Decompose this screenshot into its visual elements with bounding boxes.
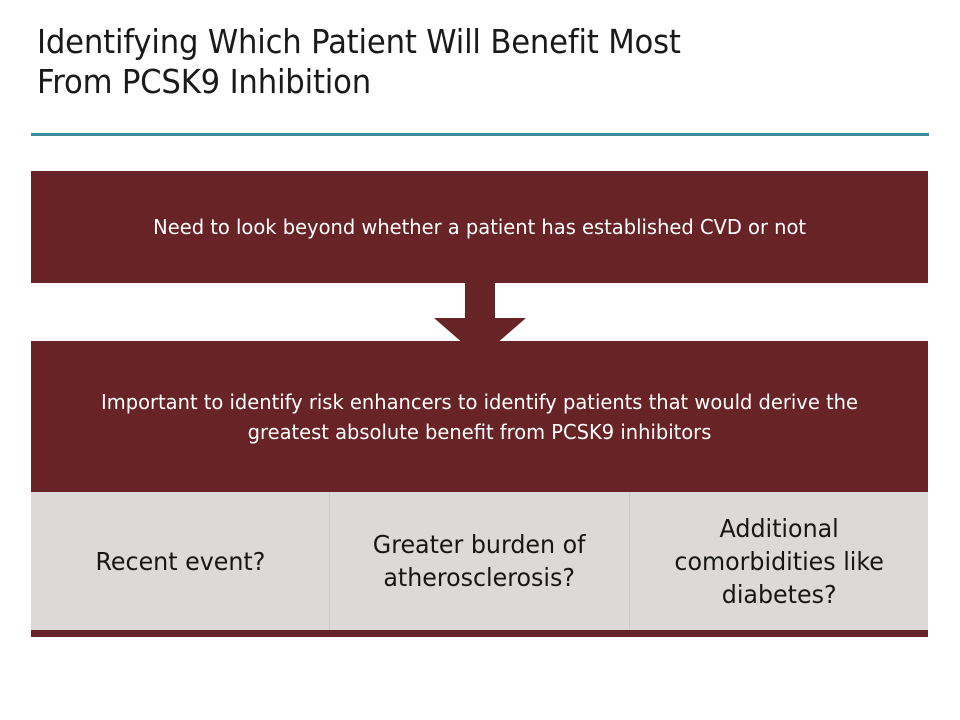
question-cell-atherosclerosis-burden[interactable]: Greater burden of atherosclerosis?: [329, 492, 628, 630]
page-title: Identifying Which Patient Will Benefit M…: [37, 22, 855, 102]
question-cell-recent-event-text: Recent event?: [86, 545, 275, 578]
process-diagram: Need to look beyond whether a patient ha…: [31, 171, 928, 637]
question-cell-atherosclerosis-burden-text: Greater burden of atherosclerosis?: [338, 528, 621, 594]
flow-band-primary-text: Need to look beyond whether a patient ha…: [136, 212, 823, 242]
title-divider-rule: [31, 133, 929, 136]
flow-band-secondary-text: Important to identify risk enhancers to …: [53, 387, 905, 447]
question-cell-recent-event[interactable]: Recent event?: [31, 492, 329, 630]
question-cell-comorbidities[interactable]: Additional comorbidities like diabetes?: [629, 492, 928, 630]
diagram-bottom-rule: [31, 630, 928, 637]
title-block: Identifying Which Patient Will Benefit M…: [37, 22, 917, 102]
flow-question-row: Recent event? Greater burden of atherosc…: [31, 492, 928, 630]
flow-arrow-connector: [31, 283, 928, 341]
flow-band-secondary[interactable]: Important to identify risk enhancers to …: [31, 341, 928, 492]
question-cell-comorbidities-text: Additional comorbidities like diabetes?: [637, 512, 920, 611]
slide-canvas: Identifying Which Patient Will Benefit M…: [0, 0, 960, 720]
flow-band-primary[interactable]: Need to look beyond whether a patient ha…: [31, 171, 928, 283]
